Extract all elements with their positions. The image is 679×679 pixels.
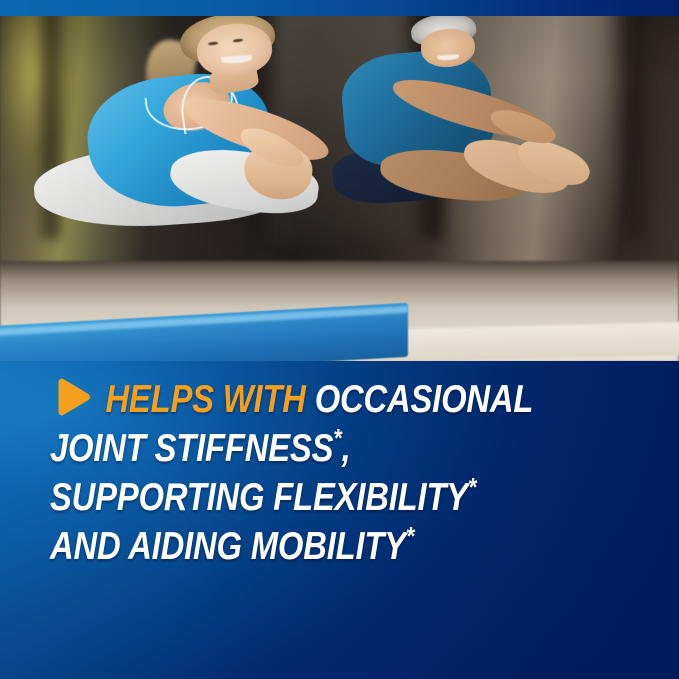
headline-block: HELPS WITH OCCASIONAL JOINT STIFFNESS*, …	[0, 361, 679, 679]
headline-line-3-asterisk: *	[468, 472, 476, 502]
headline-line-3: SUPPORTING FLEXIBILITY*	[50, 473, 553, 522]
headline-line-1-white: OCCASIONAL	[315, 378, 534, 421]
headline-line-4-white: AND AIDING MOBILITY	[50, 525, 406, 568]
headline-line-1: HELPS WITH OCCASIONAL	[50, 375, 553, 424]
headline-line-4: AND AIDING MOBILITY*	[50, 522, 553, 571]
benefit-banner: HELPS WITH OCCASIONAL JOINT STIFFNESS*, …	[0, 361, 679, 679]
headline-line-2-white: JOINT STIFFNESS	[50, 427, 333, 470]
lifestyle-photo	[0, 0, 679, 362]
play-triangle-icon	[52, 378, 92, 416]
headline-line-2-asterisk: *	[333, 423, 341, 453]
headline-line-3-white: SUPPORTING FLEXIBILITY	[50, 476, 468, 519]
background-door-frame	[625, 0, 645, 239]
headline-line-2-comma: ,	[342, 427, 351, 470]
product-benefit-ad-card: HELPS WITH OCCASIONAL JOINT STIFFNESS*, …	[0, 0, 679, 679]
headline-line-1-orange: HELPS WITH	[105, 378, 305, 421]
woman-eye	[208, 41, 218, 45]
benefit-headline: HELPS WITH OCCASIONAL JOINT STIFFNESS*, …	[50, 375, 553, 571]
headline-line-2: JOINT STIFFNESS*,	[50, 424, 553, 473]
top-accent-strip	[0, 0, 679, 16]
headline-line-4-asterisk: *	[406, 521, 414, 551]
